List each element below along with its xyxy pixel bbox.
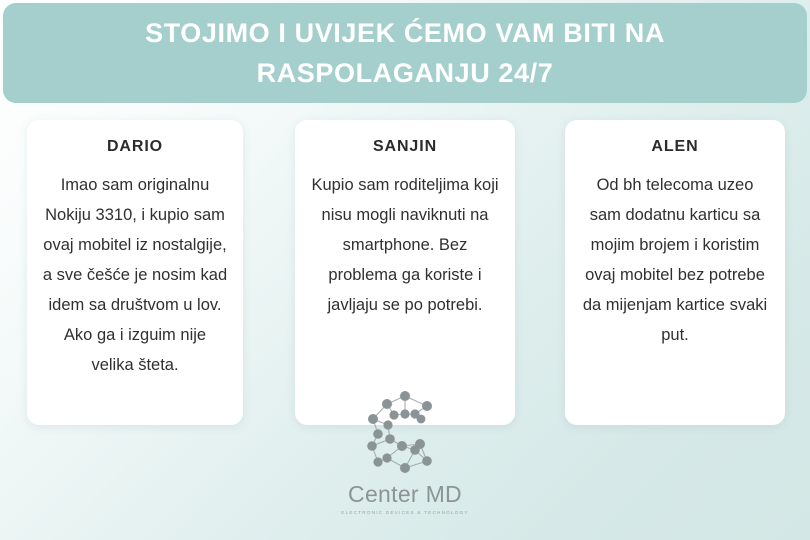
testimonial-quote-text: Imao sam originalnu Nokiju 3310, i kupio… [41,170,229,380]
dot-network-c-logo-icon [357,388,453,480]
testimonial-author-name: SANJIN [373,138,437,156]
logo-wordmark: Center MD [348,482,462,506]
testimonial-quote-text: Od bh telecoma uzeo sam dodatnu karticu … [579,170,771,350]
logo-tagline: ELECTRONIC DEVICES & TECHNOLOGY [341,508,469,518]
header-title-line-1: STOJIMO I UVIJEK ĆEMO VAM BITI NA [145,13,665,53]
testimonial-author-name: ALEN [651,138,698,156]
testimonial-card: SANJIN Kupio sam roditeljima koji nisu m… [295,120,515,425]
brand-logo: Center MD ELECTRONIC DEVICES & TECHNOLOG… [0,388,810,518]
testimonial-quote-text: Kupio sam roditeljima koji nisu mogli na… [309,170,501,320]
header-title-line-2: RASPOLAGANJU 24/7 [257,53,554,93]
testimonial-card: DARIO Imao sam originalnu Nokiju 3310, i… [27,120,243,425]
testimonial-card: ALEN Od bh telecoma uzeo sam dodatnu kar… [565,120,785,425]
header-banner: STOJIMO I UVIJEK ĆEMO VAM BITI NA RASPOL… [3,3,807,103]
testimonial-slide: STOJIMO I UVIJEK ĆEMO VAM BITI NA RASPOL… [0,0,810,540]
testimonial-author-name: DARIO [107,138,163,156]
